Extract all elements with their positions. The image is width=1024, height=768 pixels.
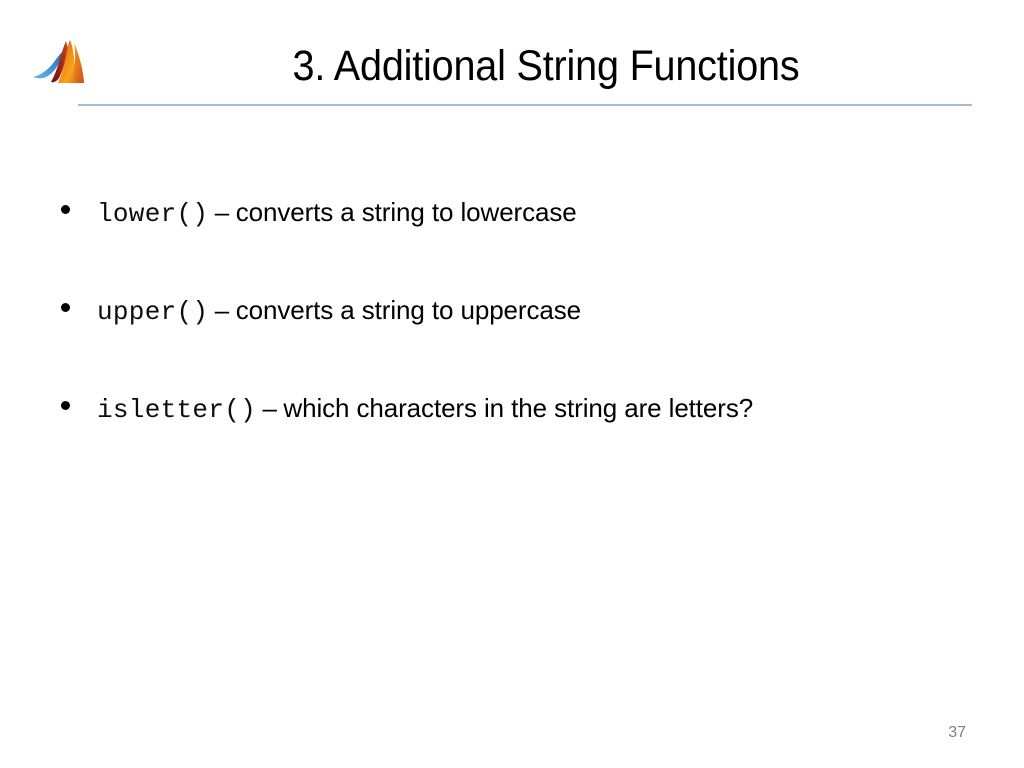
function-description: converts a string to lowercase	[236, 197, 577, 227]
bullet-dot-icon	[61, 303, 70, 312]
function-name: isletter()	[97, 395, 256, 425]
page-number: 37	[948, 724, 966, 742]
bullet-list: lower() – converts a string to lowercase…	[56, 196, 986, 490]
function-description: converts a string to uppercase	[236, 295, 581, 325]
bullet-content: upper() – converts a string to uppercase	[97, 294, 581, 328]
bullet-content: lower() – converts a string to lowercase	[97, 196, 577, 230]
bullet-dot-icon	[61, 401, 70, 410]
title-divider	[78, 104, 972, 106]
bullet-content: isletter() – which characters in the str…	[97, 392, 753, 426]
dash-separator: –	[213, 197, 231, 227]
list-item: lower() – converts a string to lowercase	[56, 196, 986, 294]
function-description: which characters in the string are lette…	[283, 393, 753, 423]
list-item: isletter() – which characters in the str…	[56, 392, 986, 490]
dash-separator: –	[260, 393, 278, 423]
list-item: upper() – converts a string to uppercase	[56, 294, 986, 392]
function-name: upper()	[97, 297, 208, 327]
function-name: lower()	[97, 199, 208, 229]
page-title: 3. Additional String Functions	[154, 40, 938, 92]
matlab-membrane-logo	[31, 37, 91, 89]
bullet-dot-icon	[61, 205, 70, 214]
slide: 3. Additional String Functions lower() –…	[0, 0, 1024, 768]
dash-separator: –	[213, 295, 231, 325]
